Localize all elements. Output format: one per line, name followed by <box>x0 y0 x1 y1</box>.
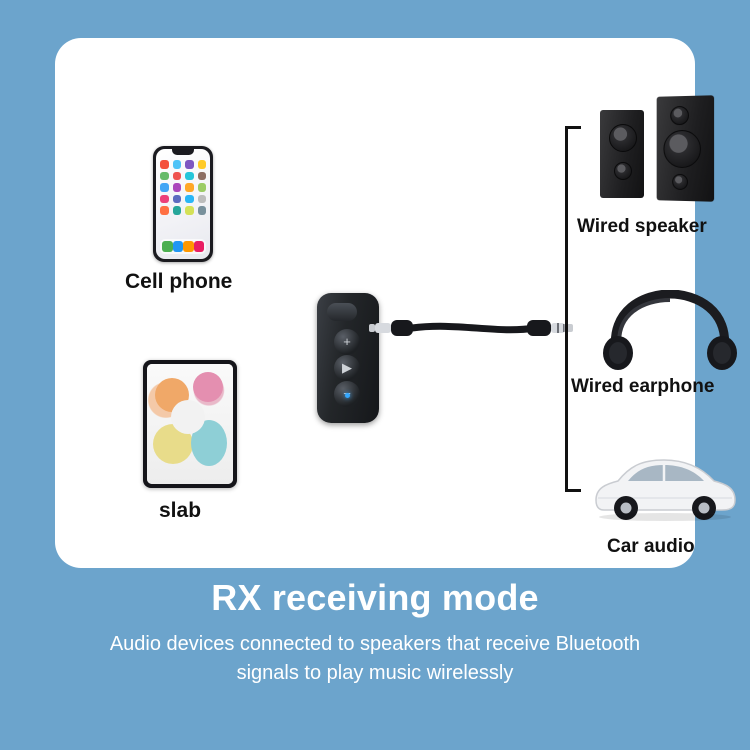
app-icon <box>173 183 182 192</box>
app-icon <box>185 160 194 169</box>
receiver-play-button[interactable]: ▶ <box>334 355 360 381</box>
earpad-left <box>609 342 627 364</box>
app-icon <box>160 160 169 169</box>
wallpaper-blob <box>171 400 205 434</box>
smartphone-dock <box>160 239 206 254</box>
app-icon <box>160 183 169 192</box>
dock-icon <box>183 241 194 252</box>
speaker-small <box>600 110 644 198</box>
label-wired-earphone: Wired earphone <box>571 376 714 398</box>
app-icon <box>198 160 207 169</box>
dock-icon <box>194 241 205 252</box>
label-cell-phone: Cell phone <box>125 270 232 294</box>
product-infographic: Cell phone slab + ▶ − <box>0 0 750 750</box>
app-icon <box>198 183 207 192</box>
headphones-icon <box>600 290 740 372</box>
label-wired-speaker: Wired speaker <box>577 216 707 238</box>
car-icon <box>590 448 740 523</box>
smartphone-icon <box>153 146 213 262</box>
app-icon <box>185 195 194 204</box>
app-icon <box>185 172 194 181</box>
speaker-driver <box>663 130 701 168</box>
aux-plug-left <box>369 320 413 336</box>
speaker-large <box>657 95 714 201</box>
app-icon <box>173 160 182 169</box>
receiver-volume-up-button[interactable]: + <box>334 329 360 355</box>
car-shadow <box>599 513 731 521</box>
app-icon <box>198 195 207 204</box>
description-line-1: Audio devices connected to speakers that… <box>55 630 695 659</box>
app-icon <box>173 172 182 181</box>
tablet-icon <box>143 360 237 488</box>
app-icon <box>173 195 182 204</box>
app-icon <box>160 206 169 215</box>
speaker-port <box>672 174 688 190</box>
tablet-screen <box>147 364 233 484</box>
aux-cable-icon <box>367 300 577 360</box>
speaker-icon <box>600 96 730 206</box>
smartphone-notch <box>172 149 194 155</box>
car-rim-rear <box>699 503 710 514</box>
speaker-driver <box>609 124 637 152</box>
footer-section: RX receiving mode Audio devices connecte… <box>0 578 750 688</box>
speaker-tweeter <box>614 162 632 180</box>
app-icon <box>185 183 194 192</box>
smartphone-screen <box>156 149 210 259</box>
label-slab: slab <box>159 499 201 523</box>
description-line-2: signals to play music wirelessly <box>55 659 695 688</box>
aux-wire <box>412 326 535 329</box>
diagram-card: Cell phone slab + ▶ − <box>55 38 695 568</box>
earpad-right <box>713 342 731 364</box>
app-icon <box>198 172 207 181</box>
app-icon <box>160 172 169 181</box>
label-car-audio: Car audio <box>607 536 695 558</box>
smartphone-app-grid <box>160 160 206 215</box>
headband <box>615 294 724 352</box>
dock-icon <box>162 241 173 252</box>
wallpaper-blob <box>193 372 223 402</box>
app-icon <box>185 206 194 215</box>
output-bracket <box>565 126 581 492</box>
receiver-clip <box>327 303 357 321</box>
dock-icon <box>173 241 184 252</box>
car-rim-front <box>621 503 632 514</box>
app-icon <box>160 195 169 204</box>
page-title: RX receiving mode <box>0 578 750 618</box>
receiver-led-indicator <box>345 393 350 398</box>
app-icon <box>173 206 182 215</box>
speaker-tweeter <box>670 106 689 125</box>
app-icon <box>198 206 207 215</box>
